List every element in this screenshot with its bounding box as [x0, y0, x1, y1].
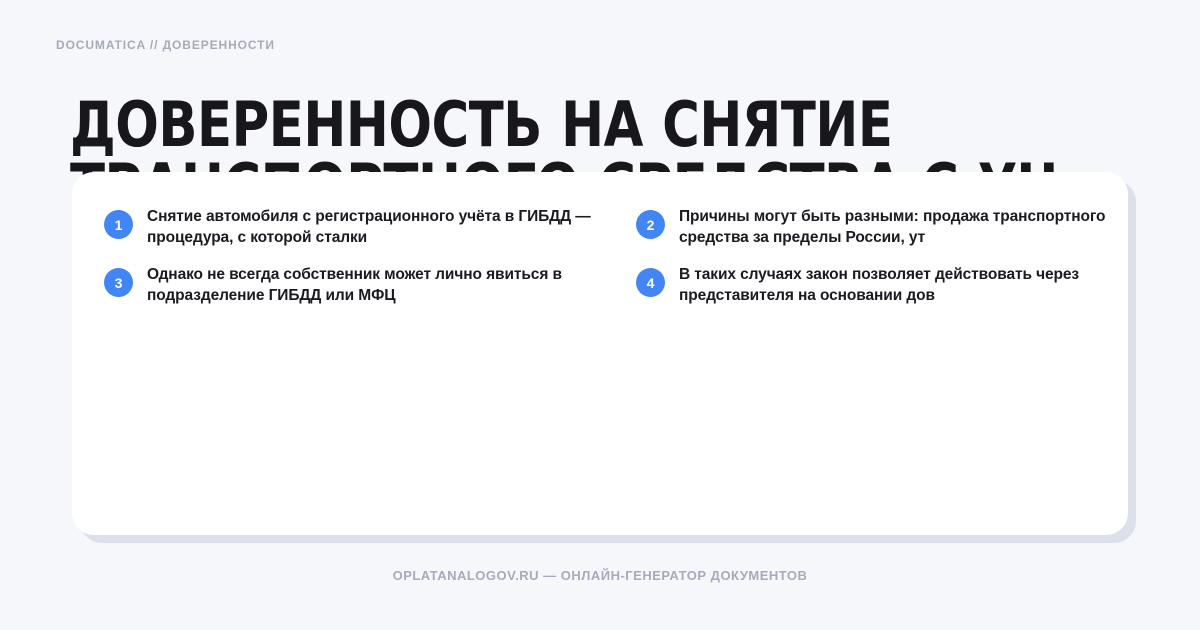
page-root: DOCUMATICA // ДОВЕРЕННОСТИ ДОВЕРЕННОСТЬ … — [0, 0, 1200, 630]
points-grid: 1 Снятие автомобиля с регистрационного у… — [104, 200, 1094, 306]
point-number-badge: 3 — [104, 268, 133, 297]
points-card: 1 Снятие автомобиля с регистрационного у… — [72, 172, 1128, 535]
list-item: 3 Однако не всегда собственник может лич… — [104, 258, 632, 306]
list-item: 1 Снятие автомобиля с регистрационного у… — [104, 200, 632, 248]
point-text: В таких случаях закон позволяет действов… — [679, 258, 1134, 306]
list-item: 4 В таких случаях закон позволяет действ… — [632, 258, 1160, 306]
point-text: Причины могут быть разными: продажа тран… — [679, 200, 1134, 248]
list-item: 2 Причины могут быть разными: продажа тр… — [632, 200, 1160, 248]
point-number-badge: 1 — [104, 210, 133, 239]
point-text: Однако не всегда собственник может лично… — [147, 258, 606, 306]
breadcrumb: DOCUMATICA // ДОВЕРЕННОСТИ — [56, 38, 275, 52]
footer-text: OPLATANALOGOV.RU — ОНЛАЙН-ГЕНЕРАТОР ДОКУ… — [0, 568, 1200, 583]
point-number-badge: 4 — [636, 268, 665, 297]
point-number-badge: 2 — [636, 210, 665, 239]
point-text: Снятие автомобиля с регистрационного учё… — [147, 200, 606, 248]
